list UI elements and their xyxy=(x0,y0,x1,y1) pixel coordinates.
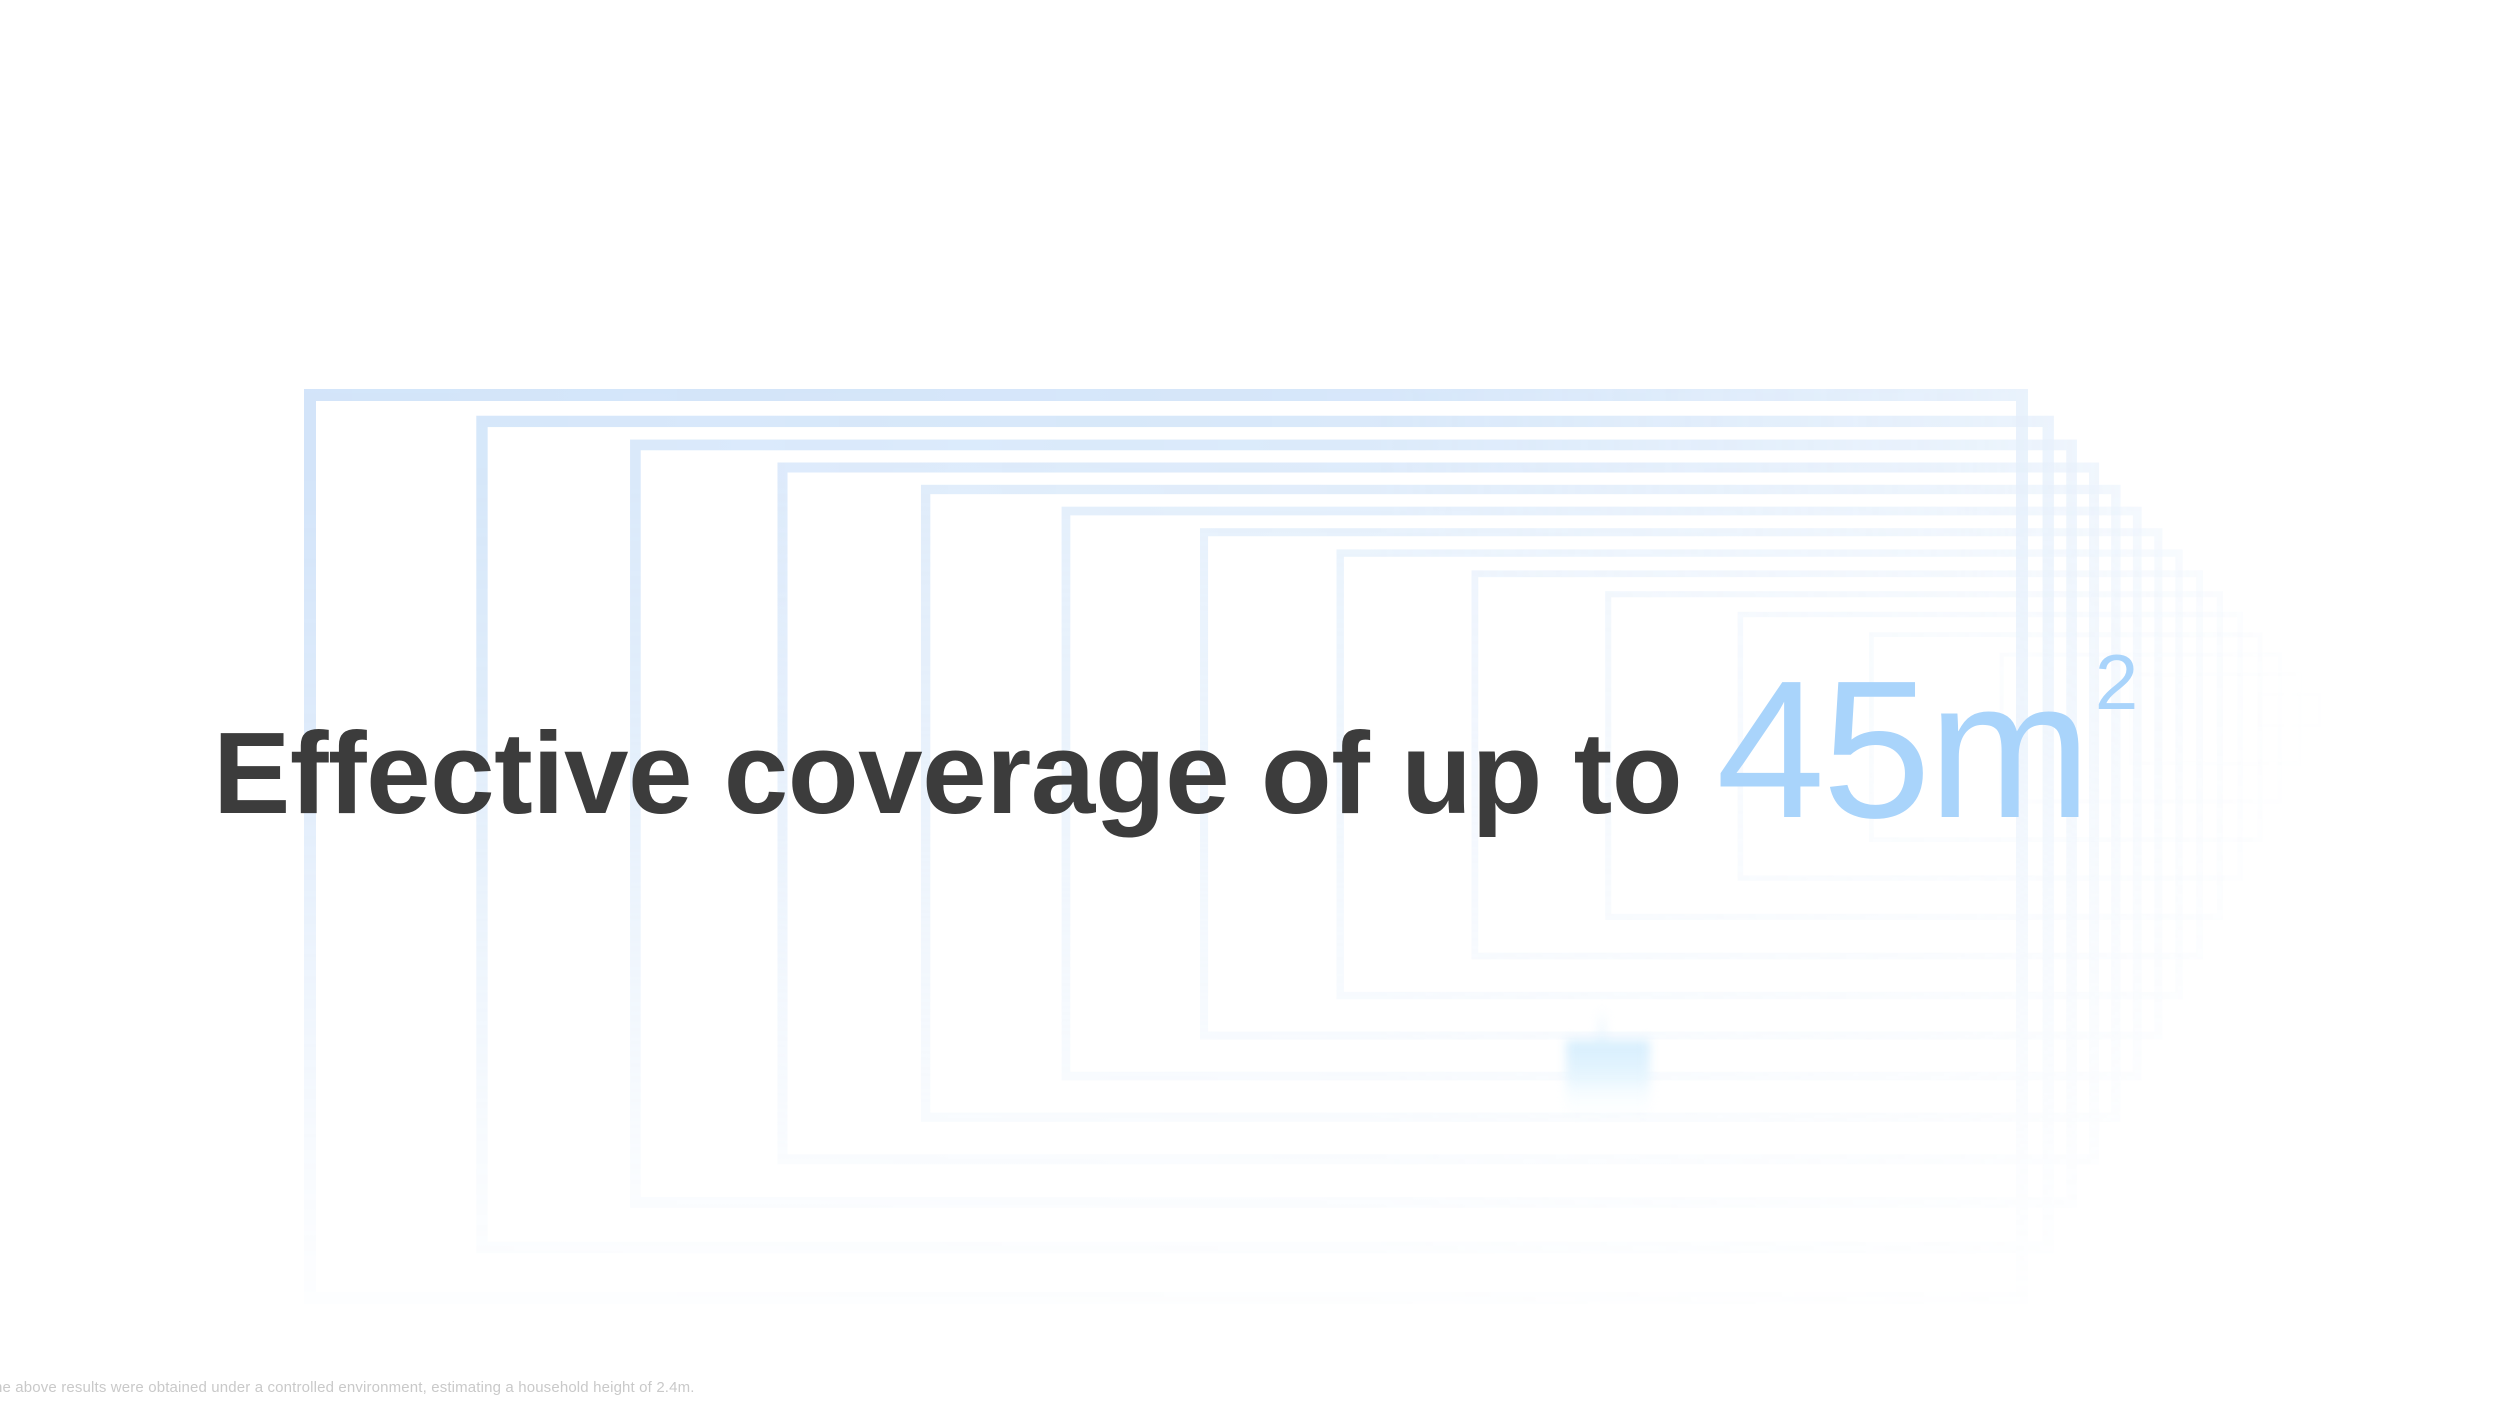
headline-lead-text: Effective coverage of up to xyxy=(213,715,1682,831)
footnote-disclaimer: he above results were obtained under a c… xyxy=(0,1379,695,1396)
coverage-unit-superscript: 2 xyxy=(2095,638,2138,726)
coverage-value: 45m xyxy=(1716,640,2088,859)
page-title: Effective coverage of up to 45m 2 xyxy=(213,648,2136,848)
air-purifier-silhouette xyxy=(1566,1040,1650,1118)
headline-highlight: 45m 2 xyxy=(1716,652,2136,848)
slide-canvas: Effective coverage of up to 45m 2 he abo… xyxy=(0,0,2511,1406)
